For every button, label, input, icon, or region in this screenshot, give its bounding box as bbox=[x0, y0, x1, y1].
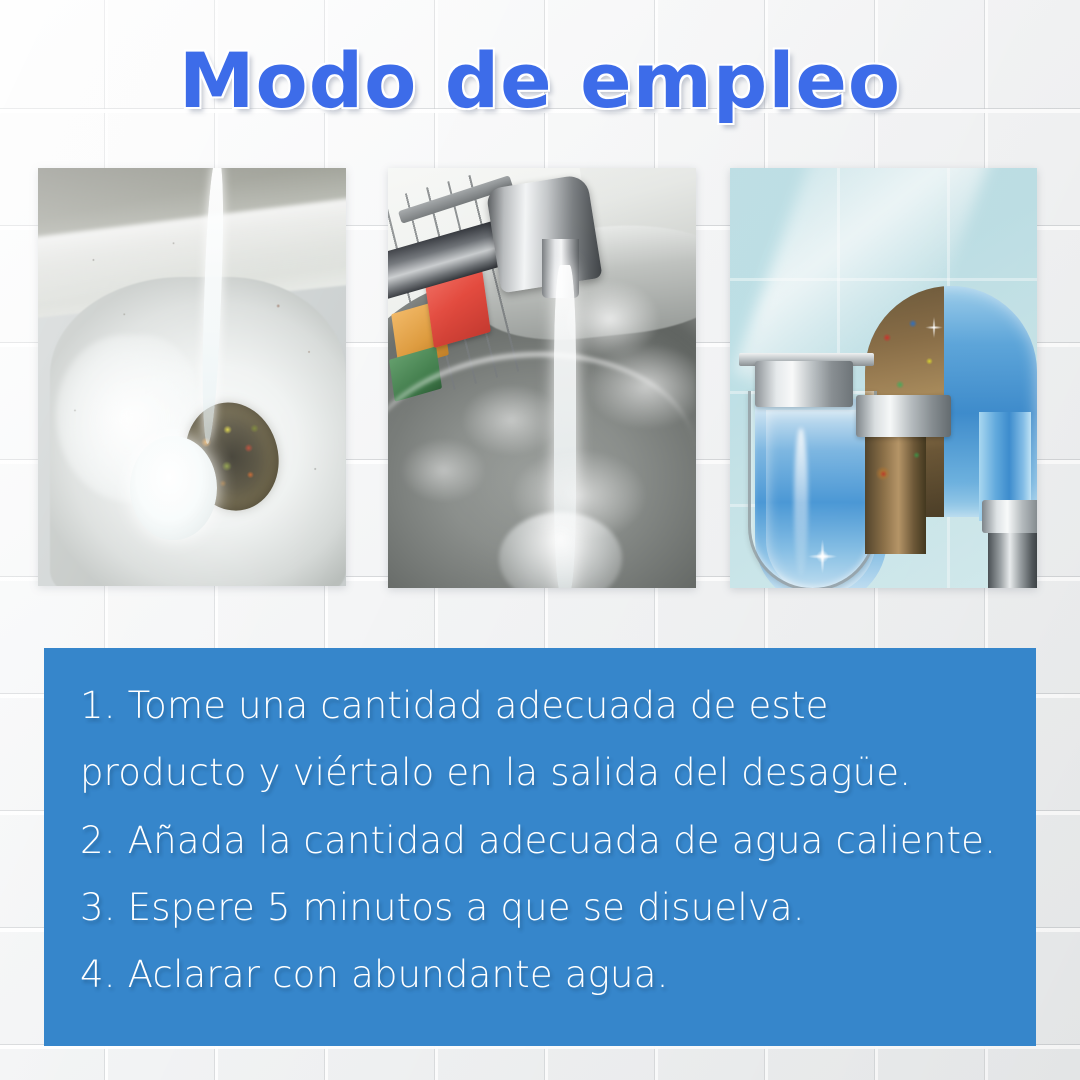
pipe-collar-middle bbox=[856, 395, 951, 437]
sparkle-icon bbox=[798, 529, 847, 584]
photo-faucet-hot-water-steam bbox=[388, 168, 696, 588]
steam-cloud bbox=[388, 168, 696, 588]
page-title: Modo de empleo bbox=[0, 36, 1080, 125]
photo-u-trap-pipe-illustration bbox=[730, 168, 1037, 588]
sparkle-small-icon bbox=[920, 311, 948, 345]
pipe-collar-top bbox=[755, 361, 853, 407]
instruction-step: 4. Aclarar con abundante agua. bbox=[80, 941, 1010, 1008]
instruction-steps-list: 1. Tome una cantidad adecuada de este pr… bbox=[80, 672, 1010, 1009]
pipe-collar-right bbox=[982, 500, 1037, 534]
promo-poster: Modo de empleo bbox=[0, 0, 1080, 1080]
instruction-step: 3. Espere 5 minutos a que se disuelva. bbox=[80, 874, 1010, 941]
instruction-step: 2. Añada la cantidad adecuada de agua ca… bbox=[80, 807, 1010, 874]
photo-sink-drain-with-powder bbox=[38, 168, 346, 586]
instructions-panel: 1. Tome una cantidad adecuada de este pr… bbox=[44, 648, 1036, 1046]
instruction-step: 1. Tome una cantidad adecuada de este pr… bbox=[80, 672, 1010, 807]
water-specks bbox=[38, 168, 346, 586]
